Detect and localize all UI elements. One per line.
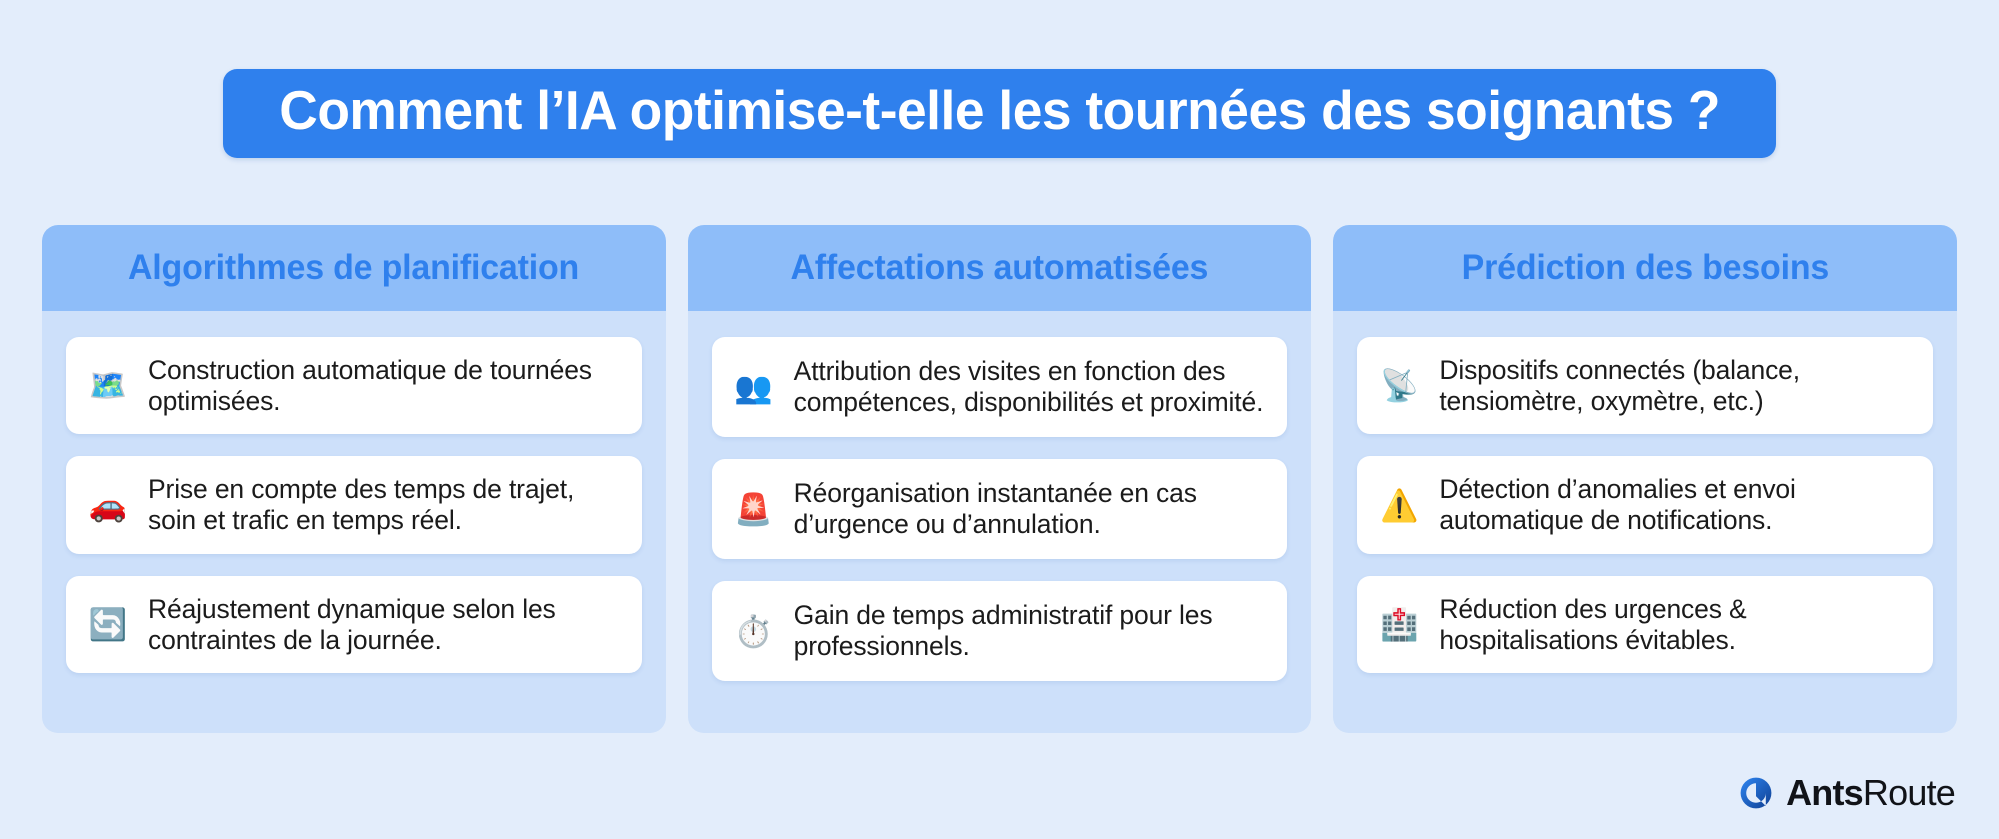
panel-algorithmes-de-planification: Algorithmes de planification 🗺️ Construc… [42, 225, 666, 733]
logo-ants-text: Ants [1786, 772, 1863, 813]
panel-header-title-2: Affectations automatisées [791, 248, 1209, 288]
list-item: ⚠️ Détection d’anomalies et envoi automa… [1357, 456, 1933, 553]
list-item: 👥 Attribution des visites en fonction de… [712, 337, 1288, 437]
panel-header-3: Prédiction des besoins [1333, 225, 1957, 311]
warning-triangle-icon: ⚠️ [1379, 485, 1419, 525]
list-item-text: Réduction des urgences & hospitalisation… [1439, 594, 1911, 655]
list-item-text: Dispositifs connectés (balance, tensiomè… [1439, 355, 1911, 416]
page-title: Comment l’IA optimise-t-elle les tournée… [279, 83, 1720, 138]
list-item-text: Détection d’anomalies et envoi automatiq… [1439, 474, 1911, 535]
columns-container: Algorithmes de planification 🗺️ Construc… [42, 225, 1957, 733]
antsroute-wordmark: AntsRoute [1786, 775, 1955, 811]
title-banner: Comment l’IA optimise-t-elle les tournée… [223, 69, 1776, 158]
list-item: 🔄 Réajustement dynamique selon les contr… [66, 576, 642, 673]
two-people-icon: 👥 [734, 367, 774, 407]
panel-header-2: Affectations automatisées [688, 225, 1312, 311]
list-item-text: Réajustement dynamique selon les contrai… [148, 594, 620, 655]
list-item: 📡 Dispositifs connectés (balance, tensio… [1357, 337, 1933, 434]
hospital-icon: 🏥 [1379, 605, 1419, 645]
list-item-text: Attribution des visites en fonction des … [794, 356, 1266, 417]
list-item-text: Prise en compte des temps de trajet, soi… [148, 474, 620, 535]
antsroute-mark-icon [1739, 776, 1773, 810]
list-item: ⏱️ Gain de temps administratif pour les … [712, 581, 1288, 681]
siren-alert-icon: 🚨 [734, 489, 774, 529]
stopwatch-icon: ⏱️ [734, 611, 774, 651]
panel-header-title-1: Algorithmes de planification [128, 248, 579, 288]
list-item: 🏥 Réduction des urgences & hospitalisati… [1357, 576, 1933, 673]
panel-body-3: 📡 Dispositifs connectés (balance, tensio… [1333, 311, 1957, 673]
panel-prediction-des-besoins: Prédiction des besoins 📡 Dispositifs con… [1333, 225, 1957, 733]
list-item-text: Construction automatique de tournées opt… [148, 355, 620, 416]
panel-body-2: 👥 Attribution des visites en fonction de… [688, 311, 1312, 681]
list-item-text: Réorganisation instantanée en cas d’urge… [794, 478, 1266, 539]
panel-header-title-3: Prédiction des besoins [1461, 248, 1828, 288]
list-item: 🚗 Prise en compte des temps de trajet, s… [66, 456, 642, 553]
panel-header-1: Algorithmes de planification [42, 225, 666, 311]
car-icon: 🚗 [88, 485, 128, 525]
satellite-dish-icon: 📡 [1379, 366, 1419, 406]
panel-body-1: 🗺️ Construction automatique de tournées … [42, 311, 666, 673]
list-item: 🗺️ Construction automatique de tournées … [66, 337, 642, 434]
list-item: 🚨 Réorganisation instantanée en cas d’ur… [712, 459, 1288, 559]
title-banner-wrapper: Comment l’IA optimise-t-elle les tournée… [0, 69, 1999, 158]
panel-affectations-automatisees: Affectations automatisées 👥 Attribution … [688, 225, 1312, 733]
logo-route-text: Route [1863, 772, 1955, 813]
world-map-icon: 🗺️ [88, 366, 128, 406]
refresh-sync-icon: 🔄 [88, 605, 128, 645]
list-item-text: Gain de temps administratif pour les pro… [794, 600, 1266, 661]
antsroute-logo: AntsRoute [1739, 775, 1955, 811]
